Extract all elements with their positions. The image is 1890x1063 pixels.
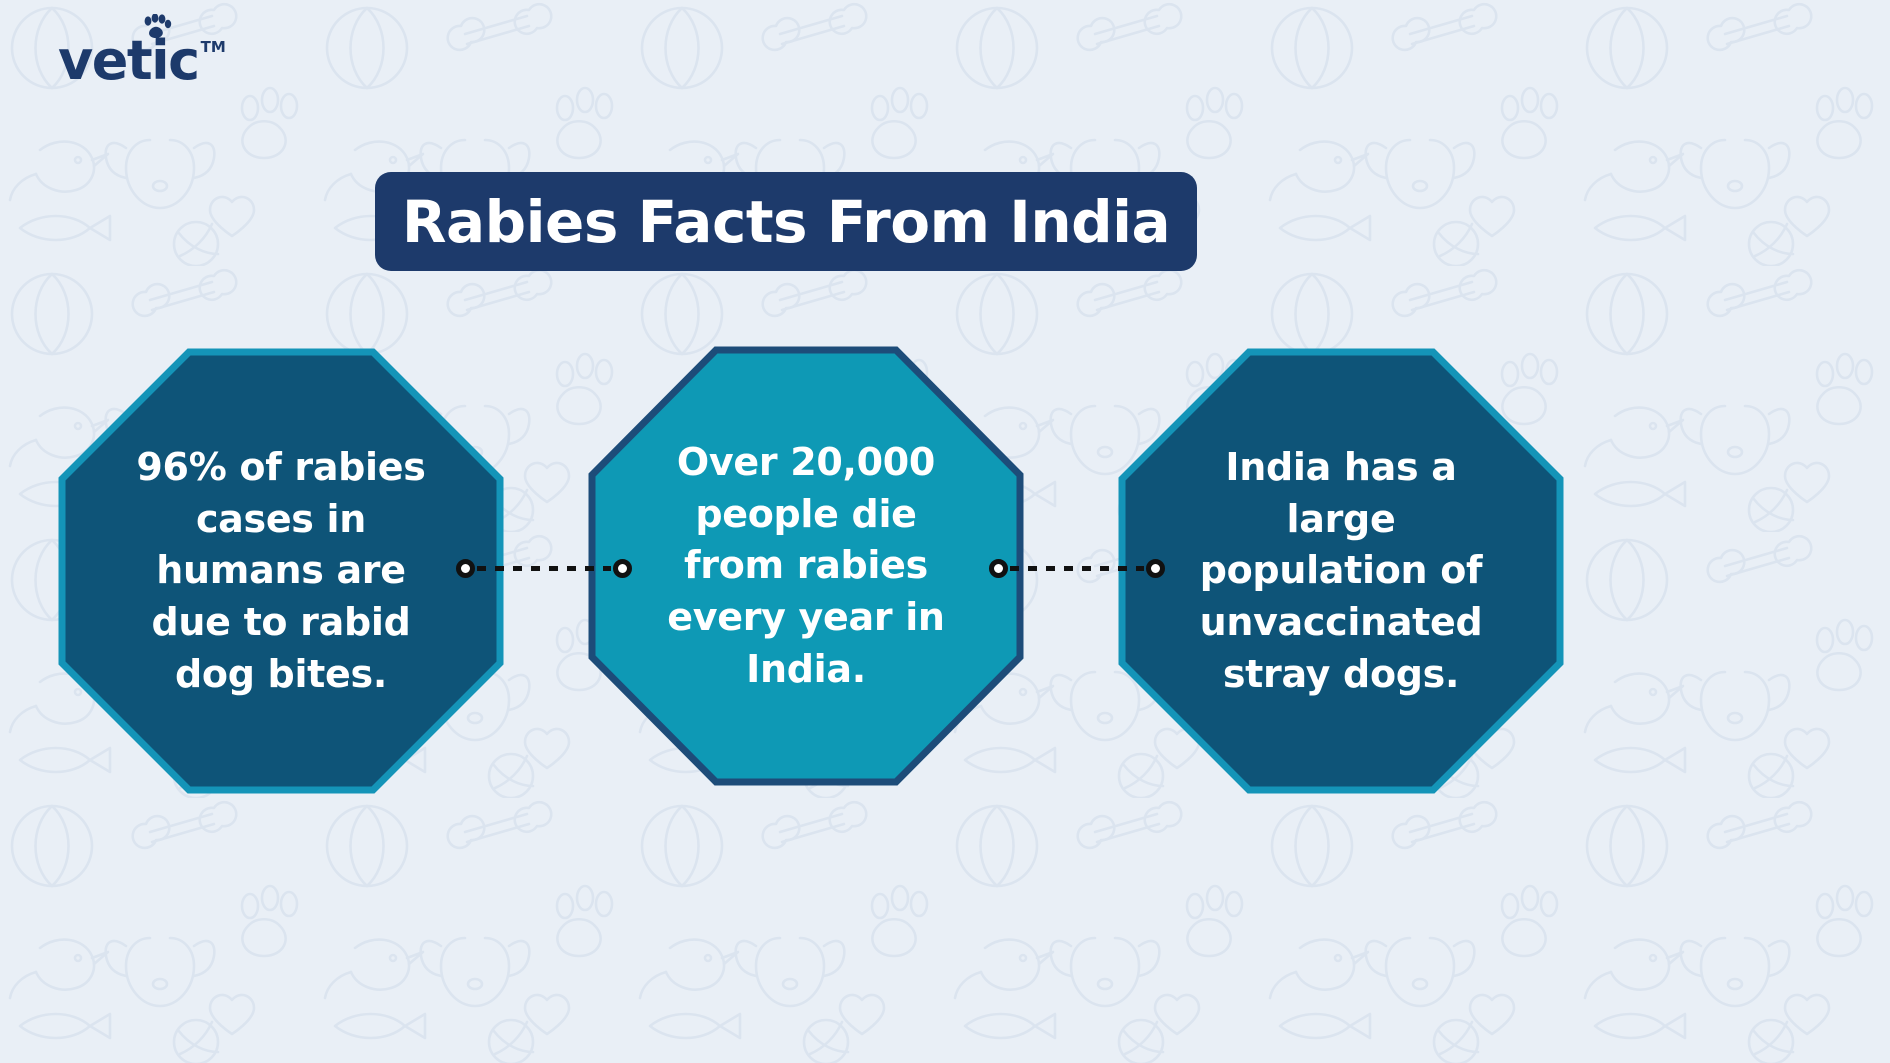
fact-card-stray-dogs[interactable]: India has a large population of unvaccin…: [1118, 348, 1564, 794]
connector-node-start-icon: [989, 559, 1008, 578]
connector-dotted-line: [477, 566, 611, 571]
fact-card-rabid-dog-bites[interactable]: 96% of rabies cases in humans are due to…: [58, 348, 504, 794]
connector-right: [989, 558, 1165, 578]
trademark-symbol: TM: [201, 40, 226, 55]
octagon-shape-right: [1118, 348, 1564, 794]
fact-card-annual-deaths[interactable]: Over 20,000 people die from rabies every…: [588, 346, 1024, 786]
octagon-shape-middle: [588, 346, 1024, 786]
page-title: Rabies Facts From India: [402, 193, 1170, 251]
connector-left: [456, 558, 632, 578]
octagon-shape-left: [58, 348, 504, 794]
connector-node-end-icon: [1146, 559, 1165, 578]
brand-logo[interactable]: vetic TM: [58, 34, 226, 88]
connector-node-start-icon: [456, 559, 475, 578]
brand-name: vetic: [58, 34, 199, 88]
connector-node-end-icon: [613, 559, 632, 578]
paw-print-icon: [142, 14, 172, 38]
connector-dotted-line: [1010, 566, 1144, 571]
title-banner: Rabies Facts From India: [375, 172, 1197, 271]
infographic-canvas: vetic TM Rabies Facts From India 96% of …: [0, 0, 1890, 1063]
